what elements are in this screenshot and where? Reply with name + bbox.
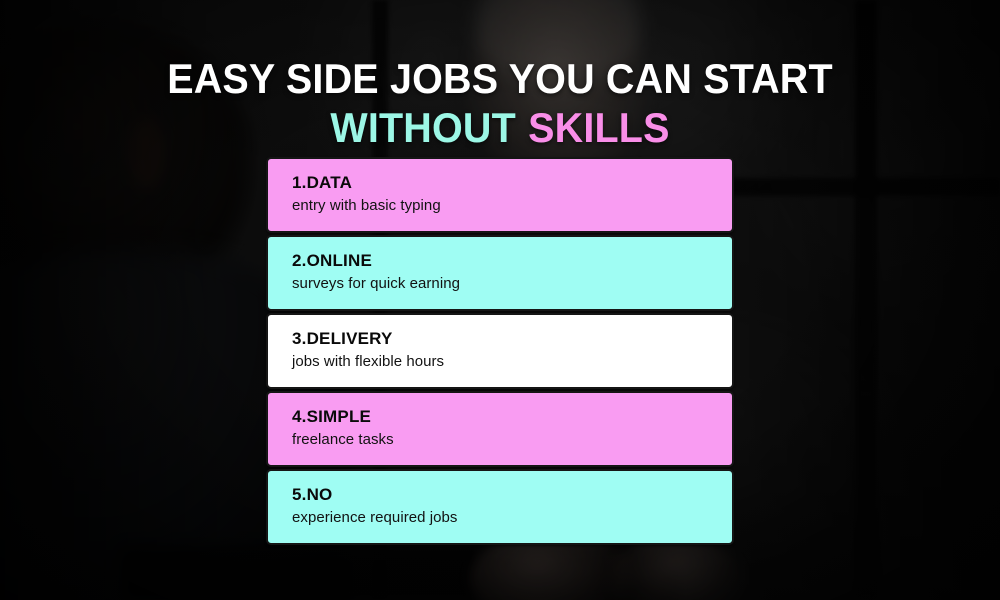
list-item-4[interactable]: 4.SIMPLE freelance tasks <box>266 391 734 467</box>
list-item-subtitle: freelance tasks <box>292 430 732 450</box>
list-item-subtitle: jobs with flexible hours <box>292 352 732 372</box>
list-item-5[interactable]: 5.NO experience required jobs <box>266 469 734 545</box>
list-item-1[interactable]: 1.DATA entry with basic typing <box>266 157 734 233</box>
headline-word-without: WITHOUT <box>330 104 516 151</box>
list-item-2[interactable]: 2.ONLINE surveys for quick earning <box>266 235 734 311</box>
list-item-subtitle: experience required jobs <box>292 508 732 528</box>
headline-word-skills: SKILLS <box>528 104 670 151</box>
poster-content: EASY SIDE JOBS YOU CAN START WITHOUTSKIL… <box>0 0 1000 600</box>
list-item-subtitle: entry with basic typing <box>292 196 732 216</box>
headline-line-2: WITHOUTSKILLS <box>30 107 970 148</box>
infographic-poster: EASY SIDE JOBS YOU CAN START WITHOUTSKIL… <box>0 0 1000 600</box>
headline: EASY SIDE JOBS YOU CAN START WITHOUTSKIL… <box>0 58 1000 148</box>
list-item-title: 1.DATA <box>292 172 732 193</box>
list-item-subtitle: surveys for quick earning <box>292 274 732 294</box>
list-item-title: 4.SIMPLE <box>292 406 732 427</box>
list-item-title: 5.NO <box>292 484 732 505</box>
list-item-title: 3.DELIVERY <box>292 328 732 349</box>
headline-line-1: EASY SIDE JOBS YOU CAN START <box>30 58 970 99</box>
list-item-title: 2.ONLINE <box>292 250 732 271</box>
list-item-3[interactable]: 3.DELIVERY jobs with flexible hours <box>266 313 734 389</box>
job-list: 1.DATA entry with basic typing 2.ONLINE … <box>266 157 734 547</box>
